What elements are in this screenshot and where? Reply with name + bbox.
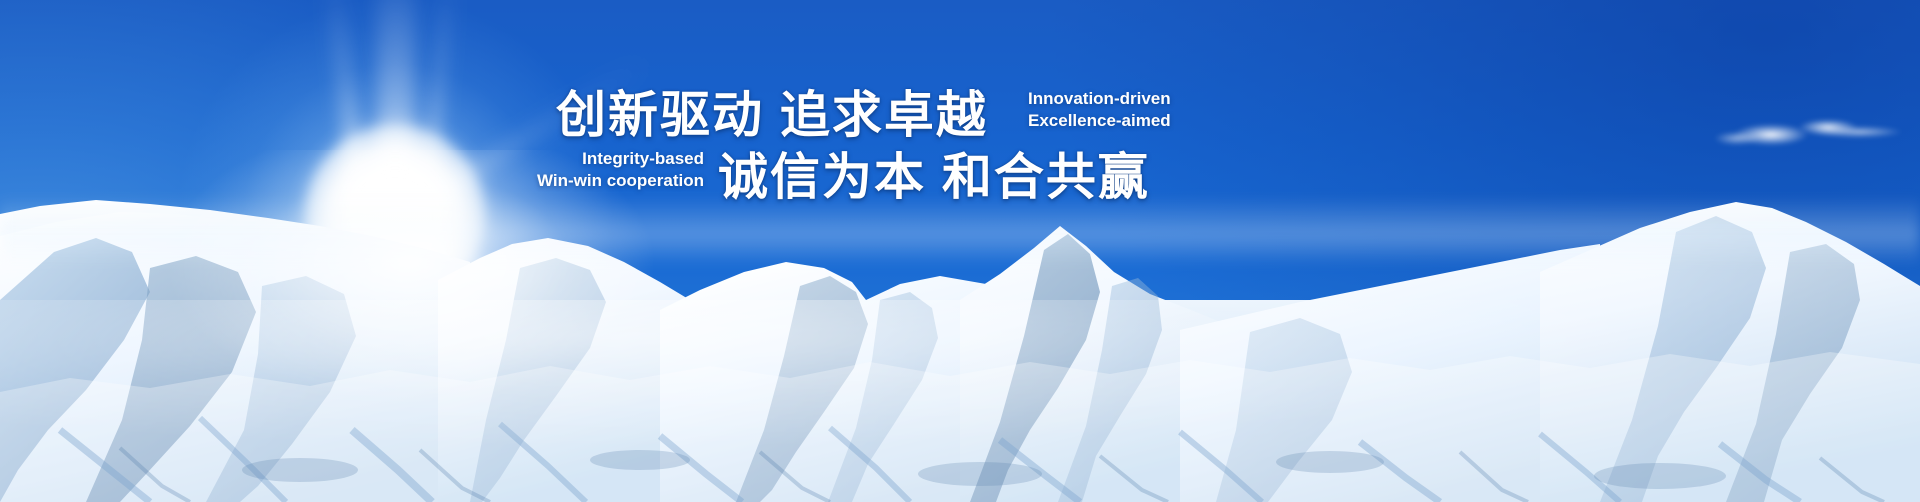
snow-mountain-range	[0, 0, 1920, 502]
hero-banner: 创新驱动 追求卓越 Innovation-driven Excellence-a…	[0, 0, 1920, 502]
